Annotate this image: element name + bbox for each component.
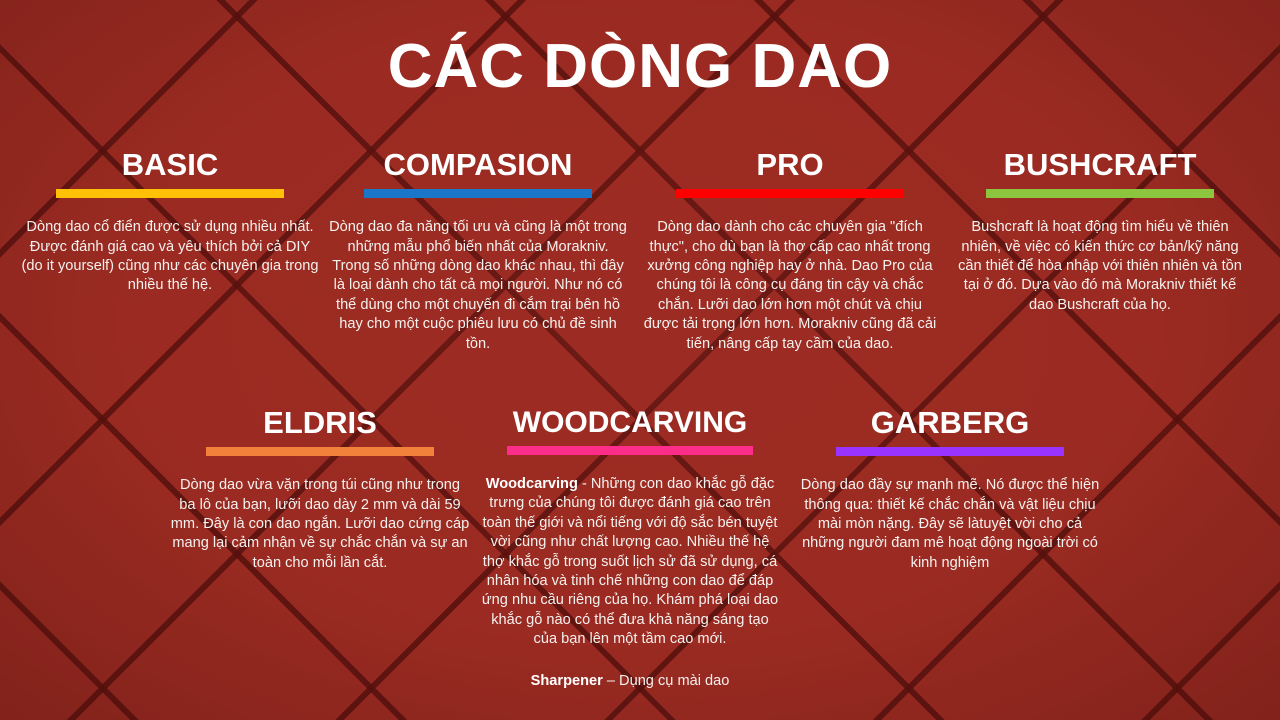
card-woodcarving-body-lead: Woodcarving: [486, 476, 578, 492]
card-woodcarving-note-text: – Dụng cụ mài dao: [603, 673, 730, 689]
card-compasion-title: COMPASION: [328, 148, 628, 182]
page-title: CÁC DÒNG DAO: [0, 34, 1280, 99]
card-garberg: GARBERG Dòng dao đầy sự mạnh mẽ. Nó được…: [800, 406, 1100, 573]
card-woodcarving-note: Sharpener – Dụng cụ mài dao: [480, 672, 780, 691]
card-pro-body: Dòng dao dành cho các chuyên gia "đích t…: [640, 218, 940, 354]
card-woodcarving-body: Woodcarving - Những con dao khắc gỗ đặc …: [480, 475, 780, 650]
card-pro: PRO Dòng dao dành cho các chuyên gia "đí…: [640, 148, 940, 354]
card-compasion: COMPASION Dòng dao đa năng tối ưu và cũn…: [328, 148, 628, 354]
card-garberg-accent-rule: [836, 447, 1064, 456]
card-bushcraft: BUSHCRAFT Bushcraft là hoạt động tìm hiể…: [950, 148, 1250, 315]
card-eldris: ELDRIS Dòng dao vừa vặn trong túi cũng n…: [170, 406, 470, 573]
card-pro-title: PRO: [640, 148, 940, 182]
card-woodcarving-title: WOODCARVING: [480, 406, 780, 439]
card-compasion-accent-rule: [364, 189, 592, 198]
card-basic: BASIC Dòng dao cổ điển được sử dụng nhiề…: [20, 148, 320, 296]
slide-canvas: CÁC DÒNG DAO BASIC Dòng dao cổ điển được…: [0, 0, 1280, 720]
card-bushcraft-body: Bushcraft là hoạt động tìm hiểu về thiên…: [950, 218, 1250, 315]
card-woodcarving: WOODCARVING Woodcarving - Những con dao …: [480, 406, 780, 691]
card-eldris-accent-rule: [206, 447, 434, 456]
card-garberg-body: Dòng dao đầy sự mạnh mẽ. Nó được thể hiệ…: [800, 476, 1100, 573]
card-basic-body: Dòng dao cổ điển được sử dụng nhiều nhất…: [20, 218, 320, 296]
card-compasion-body: Dòng dao đa năng tối ưu và cũng là một t…: [328, 218, 628, 354]
card-woodcarving-body-text: - Những con dao khắc gỗ đặc trưng của ch…: [482, 476, 778, 647]
card-eldris-body: Dòng dao vừa vặn trong túi cũng như tron…: [170, 476, 470, 573]
card-eldris-title: ELDRIS: [170, 406, 470, 440]
card-bushcraft-title: BUSHCRAFT: [950, 148, 1250, 182]
card-garberg-title: GARBERG: [800, 406, 1100, 440]
card-bushcraft-accent-rule: [986, 189, 1214, 198]
card-woodcarving-accent-rule: [507, 446, 753, 455]
card-woodcarving-note-lead: Sharpener: [531, 673, 603, 689]
card-pro-accent-rule: [676, 189, 904, 198]
card-basic-title: BASIC: [20, 148, 320, 182]
card-basic-accent-rule: [56, 189, 284, 198]
